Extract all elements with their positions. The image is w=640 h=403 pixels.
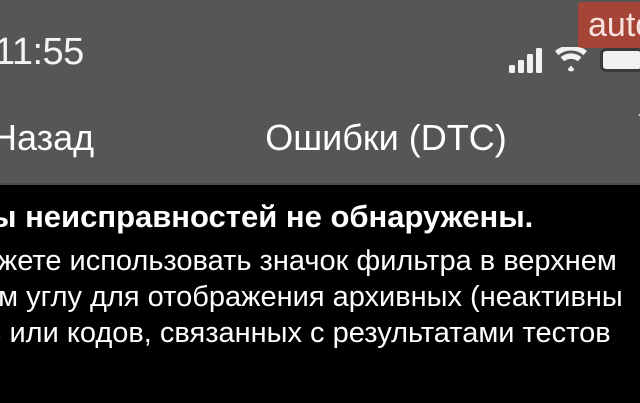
watermark-badge: auto: [578, 2, 640, 48]
battery-icon: [600, 48, 640, 72]
empty-state-body-line-3: в или кодов, связанных с результатами те…: [0, 315, 611, 351]
empty-state-body-line-1: ожете использовать значок фильтра в верх…: [0, 243, 617, 279]
status-bar-clock: 11:55: [0, 30, 84, 74]
page-title: Ошибки (DTC): [0, 116, 640, 160]
status-bar: 11:55: [0, 0, 640, 96]
signal-bar-3: [527, 54, 533, 73]
wifi-icon: [554, 47, 588, 73]
cellular-signal-icon: [509, 47, 542, 73]
signal-bar-1: [509, 65, 515, 73]
watermark-label: auto: [588, 5, 640, 45]
signal-bar-4: [536, 48, 542, 73]
signal-bar-2: [518, 60, 524, 73]
phone-screenshot: 11:55 auto Назад Ошибки (DTC): [0, 0, 640, 403]
empty-state-body-line-2: ом углу для отображения архивных (неакти…: [0, 279, 623, 315]
navigation-bar: Назад Ошибки (DTC): [0, 96, 640, 185]
empty-state-heading: ы неисправностей не обнаружены.: [0, 198, 533, 236]
dtc-empty-state-message: ы неисправностей не обнаружены. ожете ис…: [0, 185, 640, 403]
